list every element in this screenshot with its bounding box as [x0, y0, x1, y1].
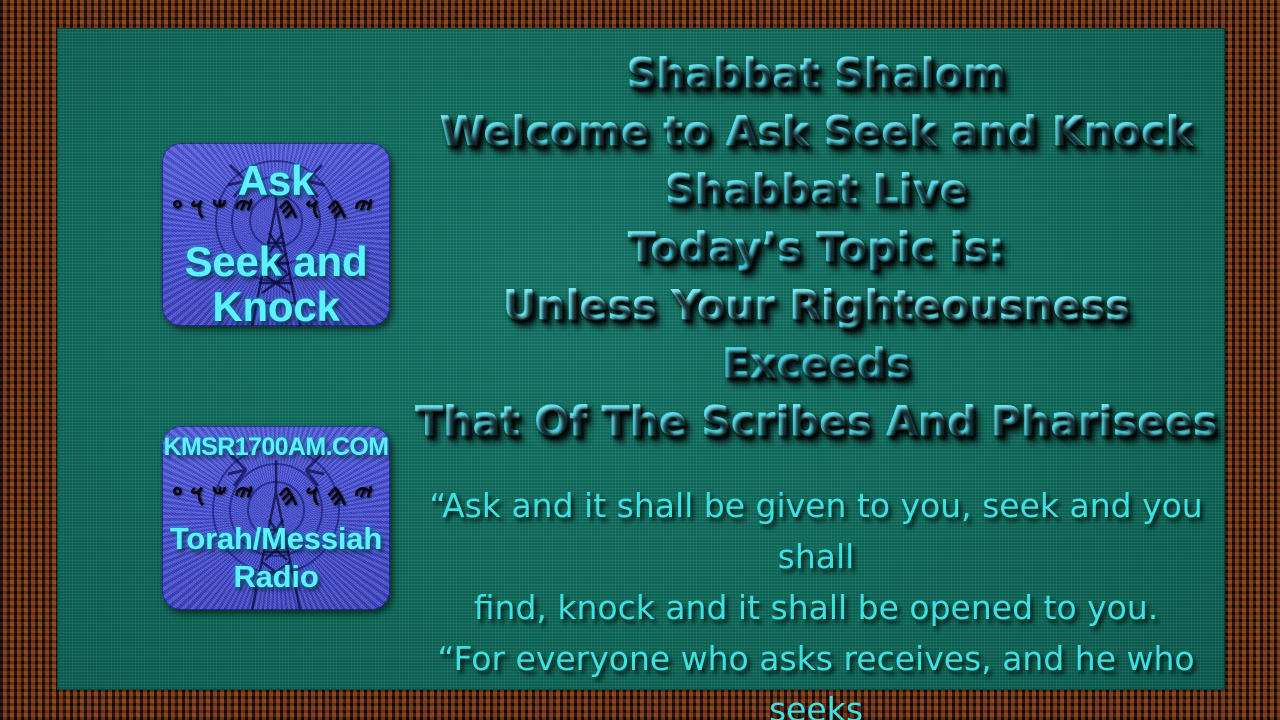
headline-line-3: Shabbat Live — [407, 160, 1225, 218]
logo-ask-line-3: Knock — [162, 283, 390, 326]
headline-line-4: Today’s Topic is: — [407, 218, 1225, 276]
headline-line-6: That Of The Scribes And Pharisees — [407, 392, 1225, 450]
slide-root: 𐤉𐤄𐤅𐤄 𐤉𐤔𐤅𐤏 Ask Seek and Knock — [0, 0, 1280, 720]
logo-ask-line-1: Ask — [162, 157, 390, 205]
headline-line-5: Unless Your Righteousness Exceeds — [407, 276, 1225, 392]
headline-block: Shabbat Shalom Welcome to Ask Seek and K… — [407, 44, 1225, 450]
logo-kmsr-line-3: Radio — [162, 559, 390, 595]
logo-kmsr-torah-messiah-radio[interactable]: 𐤉𐤄𐤅𐤄 𐤉𐤔𐤅𐤏 KMSR1700AM.COM Torah/Messiah R… — [162, 426, 390, 610]
quote-line-2: find, knock and it shall be opened to yo… — [407, 582, 1225, 633]
logo-kmsr-line-2: Torah/Messiah — [162, 521, 390, 557]
content-panel: 𐤉𐤄𐤅𐤄 𐤉𐤔𐤅𐤏 Ask Seek and Knock — [57, 28, 1225, 690]
quote-line-3: “For everyone who asks receives, and he … — [407, 633, 1225, 720]
logo-ask-line-2: Seek and — [162, 238, 390, 286]
logo-kmsr-website: KMSR1700AM.COM — [162, 433, 390, 462]
quote-line-1: “Ask and it shall be given to you, seek … — [407, 480, 1225, 582]
logo-ask-seek-and-knock[interactable]: 𐤉𐤄𐤅𐤄 𐤉𐤔𐤅𐤏 Ask Seek and Knock — [162, 143, 390, 326]
headline-line-1: Shabbat Shalom — [407, 44, 1225, 102]
scripture-quote-block: “Ask and it shall be given to you, seek … — [407, 480, 1225, 720]
headline-line-2: Welcome to Ask Seek and Knock — [407, 102, 1225, 160]
text-column: Shabbat Shalom Welcome to Ask Seek and K… — [407, 28, 1225, 690]
